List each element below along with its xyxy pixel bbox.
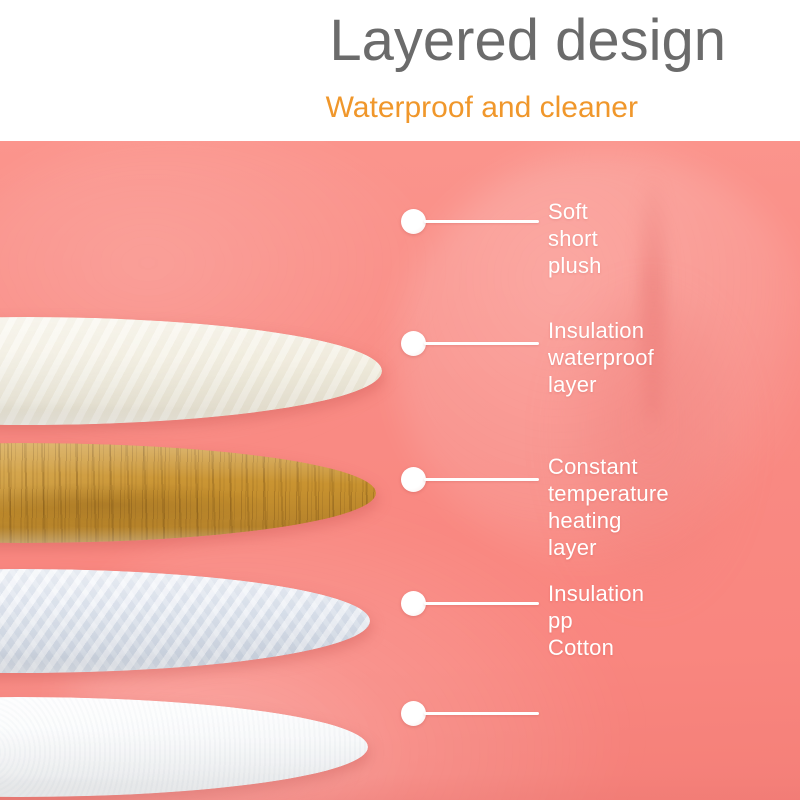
callout-line-denim-base-layer	[424, 712, 539, 715]
callout-line-constant-temperature-heating-layer	[424, 478, 539, 481]
callout-dot-soft-short-plush	[401, 209, 426, 234]
layer-slab-insulation-pp-cotton	[0, 697, 368, 797]
product-infographic: Soft short plush Insulation waterproof l…	[0, 0, 800, 800]
layer-slab-soft-short-plush	[0, 317, 382, 425]
callout-line-insulation-waterproof-layer	[424, 342, 539, 345]
page-subtitle: Waterproof and cleaner	[0, 89, 638, 127]
callout-label-soft-short-plush: Soft short plush	[548, 198, 602, 279]
callout-label-constant-temperature-heating-layer: Constant temperature heating layer	[548, 453, 669, 561]
slab-rim-highlight	[0, 657, 370, 673]
slab-rim-highlight	[0, 527, 376, 543]
product-photo-area: Soft short plush Insulation waterproof l…	[0, 141, 800, 800]
layer-slab-insulation-waterproof-layer	[0, 443, 376, 543]
header-band: Layered design Waterproof and cleaner	[0, 0, 800, 141]
callout-label-insulation-waterproof-layer: Insulation waterproof layer	[548, 317, 654, 398]
layer-slab-constant-temperature-heating-layer	[0, 569, 370, 673]
page-title: Layered design	[0, 6, 726, 76]
callout-line-soft-short-plush	[424, 220, 539, 223]
callout-dot-insulation-waterproof-layer	[401, 331, 426, 356]
callout-dot-insulation-pp-cotton	[401, 591, 426, 616]
callout-dot-constant-temperature-heating-layer	[401, 467, 426, 492]
callout-line-insulation-pp-cotton	[424, 602, 539, 605]
slab-rim-highlight	[0, 409, 382, 425]
callout-dot-denim-base-layer	[401, 701, 426, 726]
callout-label-insulation-pp-cotton: Insulation pp Cotton	[548, 580, 644, 661]
